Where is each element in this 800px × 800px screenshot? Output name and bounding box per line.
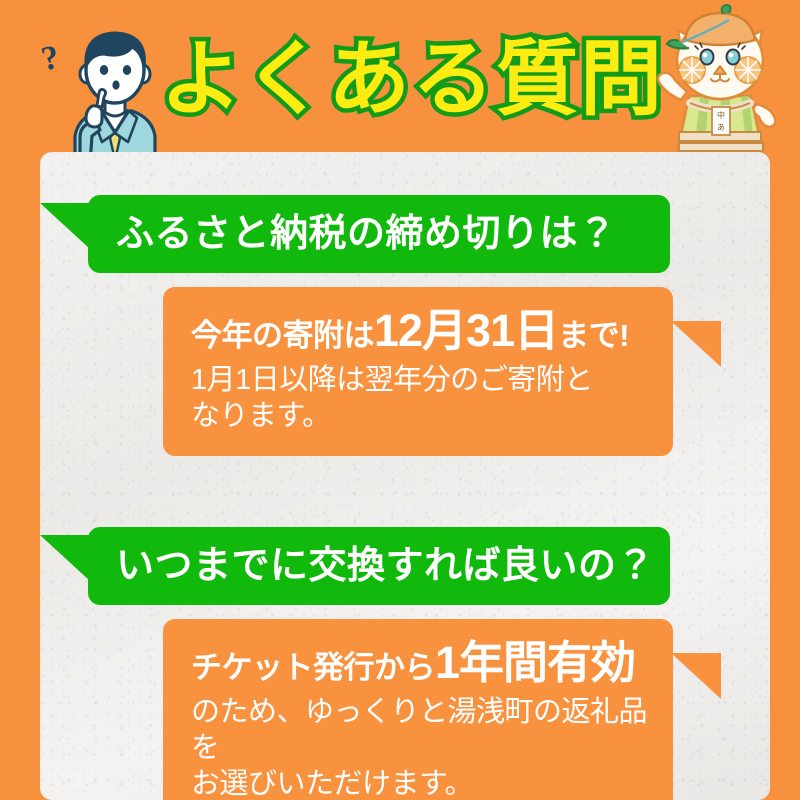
faq-answer-1-lead: 今年の寄附は12月31日まで! (191, 307, 649, 356)
faq-answer-1-emphasis: 12月31日 (374, 305, 558, 356)
svg-text:あ: あ (717, 123, 725, 132)
paper-panel: ふるさと納税の締め切りは？ 今年の寄附は12月31日まで! 1月1日以降は翌年分… (40, 152, 770, 800)
faq-question-2: いつまでに交換すれば良いの？ (88, 527, 670, 605)
faq-answer-1-lead-before: 今年の寄附は (191, 318, 374, 353)
faq-question-1-text: ふるさと納税の締め切りは？ (116, 215, 617, 253)
faq-question-2-text: いつまでに交換すれば良いの？ (116, 547, 655, 585)
faq-answer-2-emphasis: 1年間有効 (435, 637, 635, 688)
answer-tail-icon (671, 321, 721, 367)
cat-mascot-illustration: 中 あ (645, 4, 795, 169)
speech-tail-icon (40, 203, 90, 249)
faq-answer-2-body: のため、ゆっくりと湯浅町の返礼品をお選びいただけます。 (191, 694, 649, 800)
answer-tail-icon (671, 653, 721, 699)
poster-header: ? (0, 0, 800, 160)
faq-answer-1: 今年の寄附は12月31日まで! 1月1日以降は翌年分のご寄附となります。 (163, 287, 673, 456)
page-title: よくある質問 (182, 26, 642, 134)
faq-answer-2-lead-before: チケット発行から (191, 650, 435, 685)
speech-tail-icon (40, 535, 90, 581)
faq-answer-2: チケット発行から1年間有効 のため、ゆっくりと湯浅町の返礼品をお選びいただけます… (163, 619, 673, 800)
cat-mascot-svg: 中 あ (645, 4, 795, 169)
svg-text:中: 中 (717, 110, 725, 120)
faq-answer-1-body: 1月1日以降は翌年分のご寄附となります。 (191, 362, 649, 435)
faq-answer-2-lead: チケット発行から1年間有効 (191, 639, 649, 688)
faq-poster: ? (0, 0, 800, 800)
faq-question-1: ふるさと納税の締め切りは？ (88, 195, 670, 273)
faq-answer-1-lead-after: まで! (558, 318, 629, 353)
